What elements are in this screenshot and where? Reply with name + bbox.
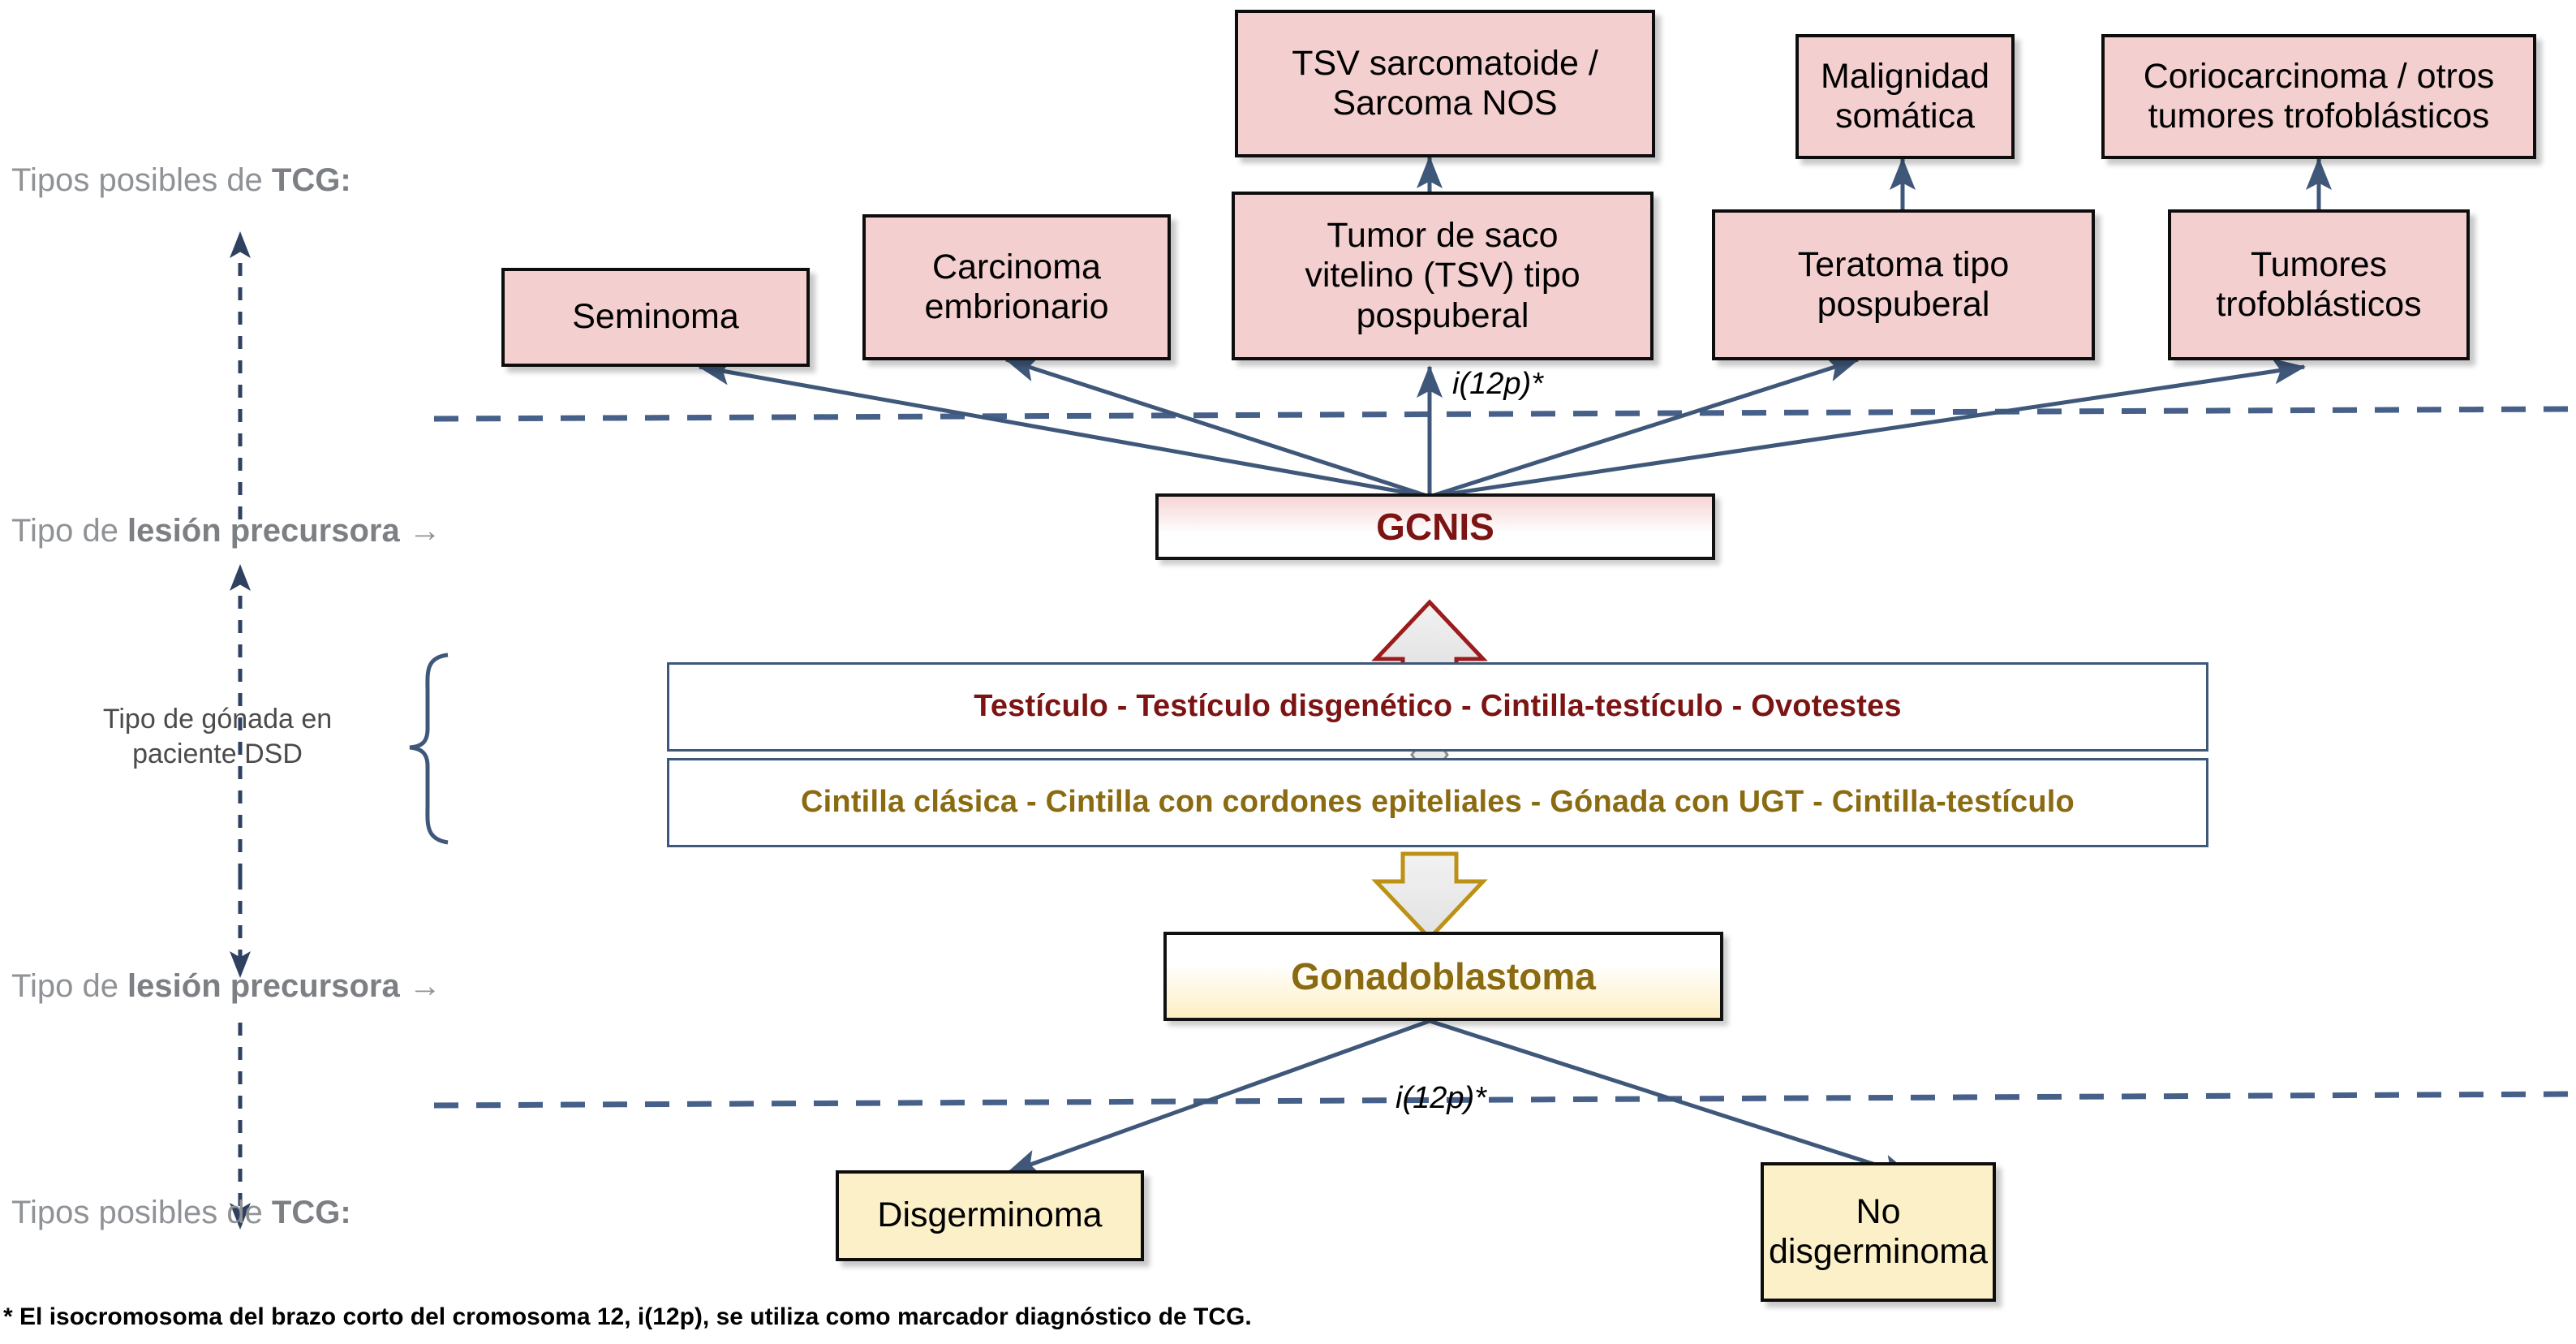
i12p-marker-upper: i(12p)*: [1452, 367, 1543, 402]
side-label-lower-precursor-prefix: Tipo de: [11, 968, 127, 1004]
gonad-row-streak[interactable]: Cintilla clásica - Cintilla con cordones…: [667, 758, 2208, 847]
tumor-label-malignidad-somatica: Malignidadsomática: [1813, 57, 1998, 137]
side-label-bottom-tcg-bold: TCG:: [272, 1195, 351, 1230]
side-label-lower-precursor: Tipo de lesión precursora →: [11, 968, 441, 1005]
gonad-row-testicular[interactable]: Testículo - Testículo disgenético - Cint…: [667, 662, 2208, 752]
gonad-row-testicular-label: Testículo - Testículo disgenético - Cint…: [965, 689, 1910, 725]
tumor-label-tumor-saco-vitelino: Tumor de sacovitelino (TSV) tipopospuber…: [1297, 216, 1588, 336]
side-label-bottom-tcg-prefix: Tipos posibles de: [11, 1195, 272, 1230]
side-label-gonad-type-line1: Tipo de gónada en: [55, 702, 380, 737]
tumor-box-coriocarcinoma[interactable]: Coriocarcinoma / otrostumores trofoblást…: [2101, 34, 2536, 159]
tumor-box-carcinoma-embrionario[interactable]: Carcinomaembrionario: [862, 214, 1171, 360]
diagram-canvas: Tipos posibles de TCG: Tipo de lesión pr…: [0, 0, 2576, 1344]
tumor-label-no-disgerminoma: Nodisgerminoma: [1761, 1192, 1996, 1273]
tumor-label-teratoma-pospuberal: Teratoma tipopospuberal: [1790, 245, 2018, 325]
tumor-label-carcinoma-embrionario: Carcinomaembrionario: [916, 248, 1116, 328]
precursor-box-gcnis[interactable]: GCNIS: [1155, 493, 1715, 560]
tumor-box-tsv-sarcomatoide[interactable]: TSV sarcomatoide /Sarcoma NOS: [1235, 10, 1655, 157]
side-label-gonad-type-line2: paciente DSD: [55, 737, 380, 772]
tumor-box-disgerminoma[interactable]: Disgerminoma: [836, 1170, 1144, 1261]
separator-dashed-upper: [434, 409, 2576, 419]
side-label-upper-precursor-prefix: Tipo de: [11, 513, 127, 549]
gonad-row-streak-label: Cintilla clásica - Cintilla con cordones…: [793, 785, 2083, 821]
side-label-top-tcg-prefix: Tipos posibles de: [11, 162, 272, 198]
side-label-lower-precursor-bold: lesión precursora: [127, 968, 400, 1004]
precursor-box-gonadoblastoma[interactable]: Gonadoblastoma: [1163, 932, 1723, 1021]
side-label-top-tcg-bold: TCG:: [272, 162, 351, 198]
tumor-box-no-disgerminoma[interactable]: Nodisgerminoma: [1761, 1162, 1996, 1302]
gonad-brace: [410, 655, 448, 842]
tumor-label-disgerminoma: Disgerminoma: [869, 1195, 1110, 1235]
side-label-upper-precursor-suffix: →: [400, 513, 441, 549]
tumor-box-tumor-saco-vitelino[interactable]: Tumor de sacovitelino (TSV) tipopospuber…: [1232, 192, 1654, 360]
tumor-box-teratoma-pospuberal[interactable]: Teratoma tipopospuberal: [1712, 209, 2095, 360]
side-label-gonad-type: Tipo de gónada en paciente DSD: [55, 702, 380, 771]
tumor-box-malignidad-somatica[interactable]: Malignidadsomática: [1795, 34, 2015, 159]
side-label-upper-precursor: Tipo de lesión precursora →: [11, 513, 441, 549]
side-label-bottom-tcg: Tipos posibles de TCG:: [11, 1195, 351, 1231]
arrow-down-to-gonadoblastoma: [1376, 854, 1483, 938]
side-label-top-tcg: Tipos posibles de TCG:: [11, 162, 351, 199]
tumor-label-tumores-trofoblasticos: Tumorestrofoblásticos: [2208, 245, 2429, 325]
tumor-box-tumores-trofoblasticos[interactable]: Tumorestrofoblásticos: [2168, 209, 2470, 360]
tumor-label-seminoma: Seminoma: [564, 297, 747, 337]
footnote-text: * El isocromosoma del brazo corto del cr…: [3, 1303, 1252, 1331]
tumor-label-coriocarcinoma: Coriocarcinoma / otrostumores trofoblást…: [2135, 57, 2503, 137]
side-label-lower-precursor-suffix: →: [400, 968, 441, 1004]
precursor-label-gcnis: GCNIS: [1368, 506, 1503, 549]
i12p-marker-lower: i(12p)*: [1396, 1081, 1486, 1116]
separator-dashed-lower: [434, 1094, 2576, 1105]
tumor-box-seminoma[interactable]: Seminoma: [501, 268, 810, 367]
side-label-upper-precursor-bold: lesión precursora: [127, 513, 400, 549]
precursor-label-gonadoblastoma: Gonadoblastoma: [1283, 955, 1604, 998]
tumor-label-tsv-sarcomatoide: TSV sarcomatoide /Sarcoma NOS: [1284, 44, 1606, 124]
